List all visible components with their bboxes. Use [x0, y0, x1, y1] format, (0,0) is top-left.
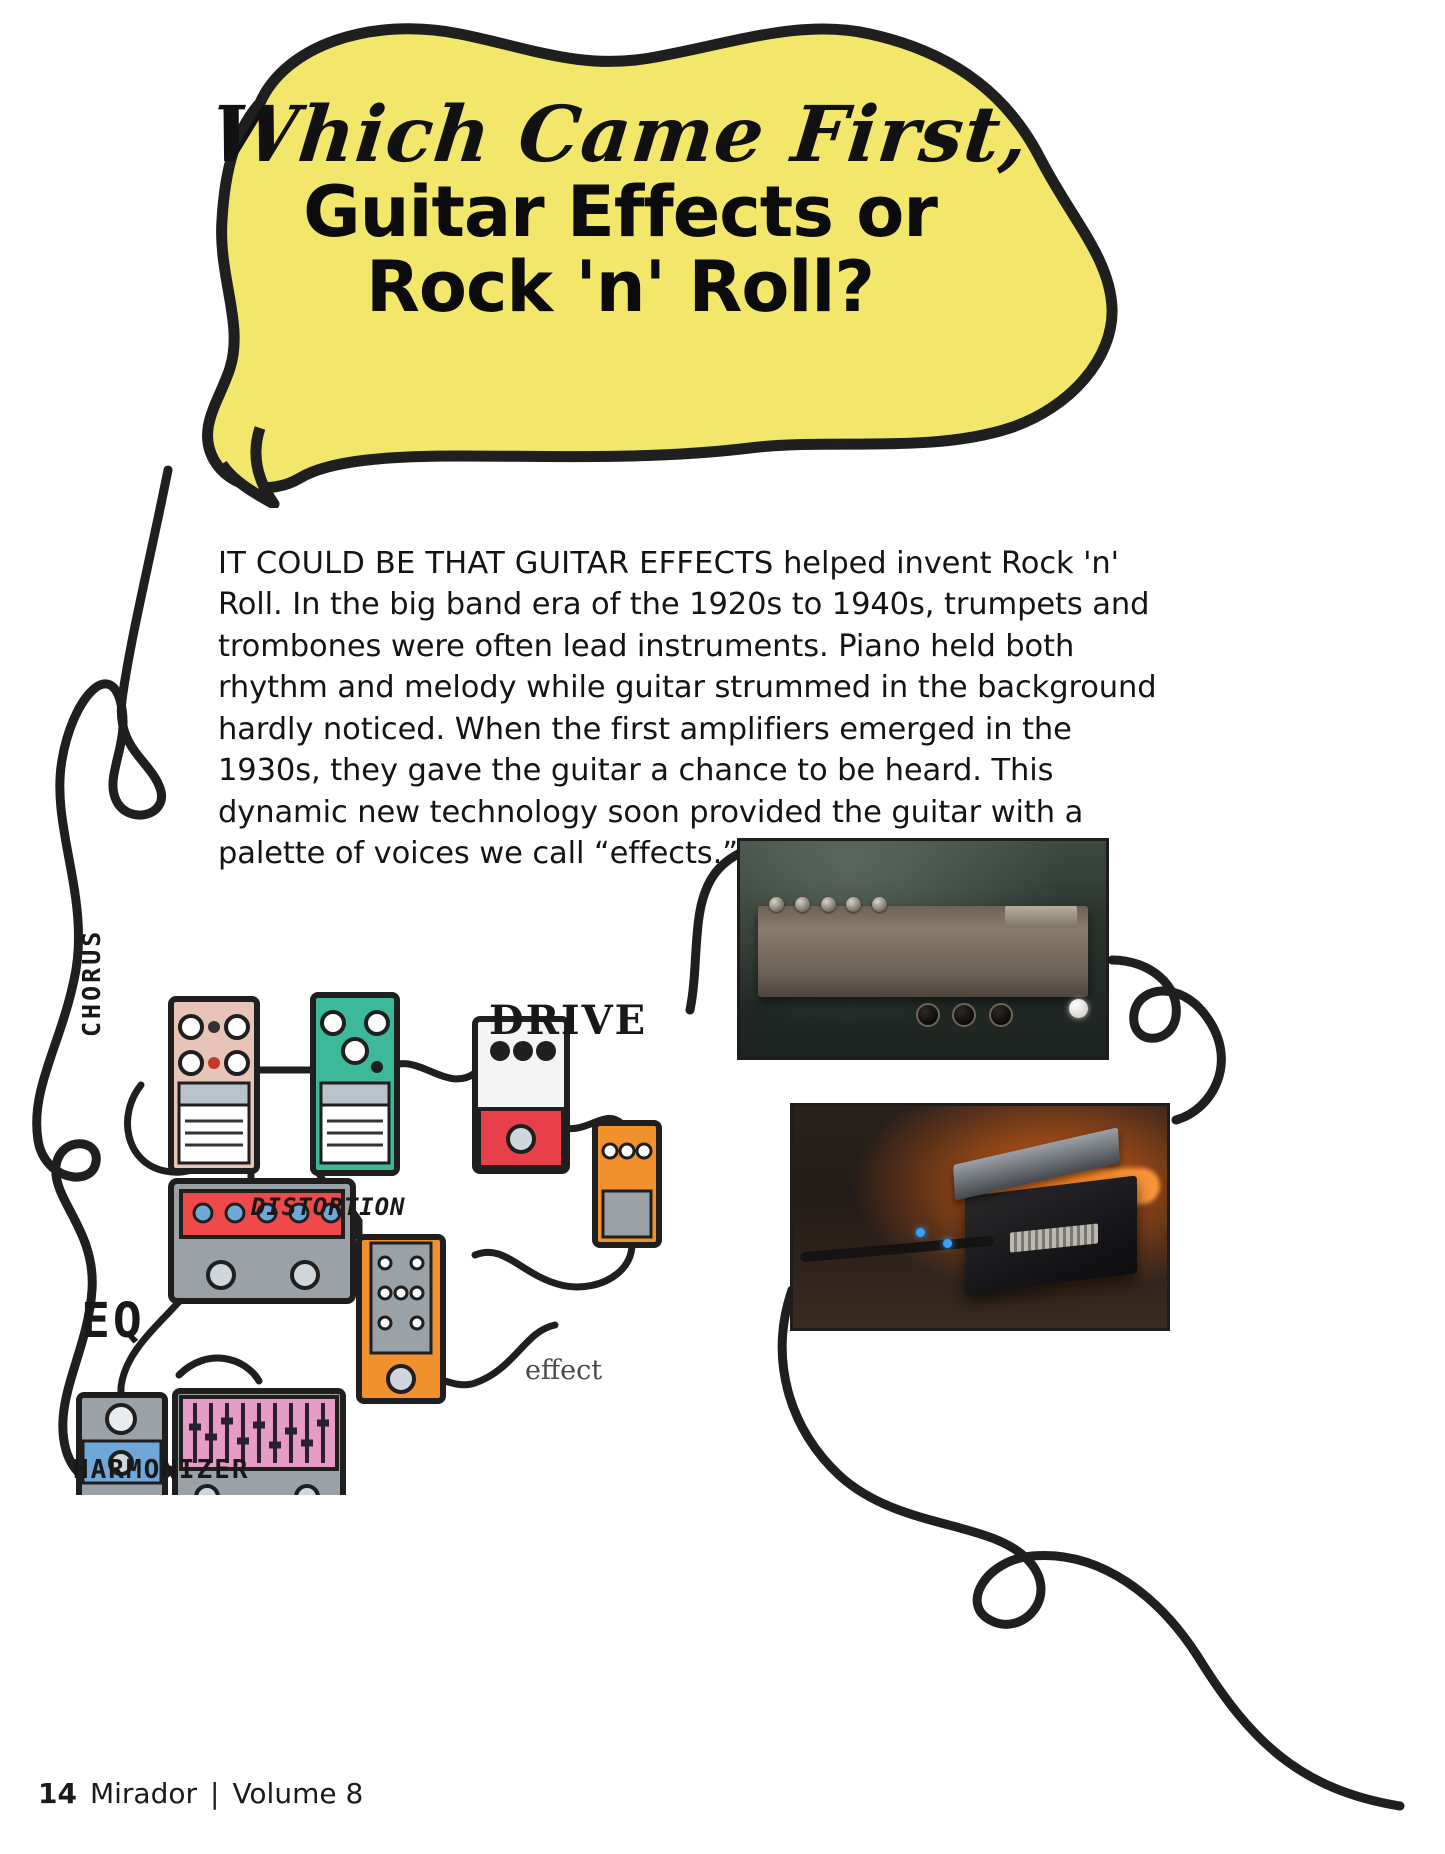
- pedal-label-eq: EQ: [81, 1293, 145, 1349]
- delay-knob: [795, 897, 810, 912]
- wah-led: [943, 1239, 952, 1248]
- pedalboard-illustration: CHORUS DISTORTION DRIVE EQ effect HARMON…: [55, 975, 755, 1495]
- pedal-label-harmonizer: HARMONIZER: [73, 1455, 250, 1485]
- crybaby-wah-pedal-photo: [790, 1103, 1170, 1331]
- delay-jack: [916, 1003, 940, 1027]
- footer-page-number: 14: [38, 1777, 77, 1810]
- delay-jack: [952, 1003, 976, 1027]
- title-line-script: Which Came First,: [106, 98, 1134, 173]
- delay-jack: [989, 1003, 1013, 1027]
- footer-volume: Volume 8: [232, 1777, 363, 1810]
- delay-brand-plate: [1005, 906, 1077, 928]
- article-lead-in: IT COULD BE THAT GUITAR EFFECTS: [218, 546, 773, 581]
- chorus-pedal: [171, 999, 257, 1171]
- korg-digital-delay-photo: [737, 838, 1109, 1060]
- distortion-pedal: [313, 995, 397, 1173]
- effect-pedal-orange: [595, 1123, 659, 1245]
- wah-led: [916, 1228, 925, 1237]
- page-footer: 14 Mirador | Volume 8: [38, 1777, 363, 1810]
- delay-power-led: [1069, 999, 1088, 1018]
- title-block: Which Came First, Guitar Effects or Rock…: [110, 98, 1130, 324]
- title-line-bold-2: Rock 'n' Roll?: [110, 250, 1130, 324]
- multi-switch-pedal: [359, 1237, 443, 1401]
- pedal-label-distortion: DISTORTION: [251, 1193, 406, 1221]
- pedal-label-effect: effect: [525, 1355, 602, 1386]
- delay-knob: [872, 897, 887, 912]
- pedal-label-chorus: CHORUS: [77, 929, 106, 1037]
- footer-publication: Mirador: [90, 1777, 197, 1810]
- pedal-label-drive: DRIVE: [489, 997, 647, 1044]
- title-speech-bubble: Which Came First, Guitar Effects or Rock…: [110, 8, 1130, 508]
- pedalboard-drawing: [55, 975, 755, 1495]
- magazine-page: Which Came First, Guitar Effects or Rock…: [0, 0, 1445, 1854]
- delay-knob: [821, 897, 836, 912]
- article-paragraph: IT COULD BE THAT GUITAR EFFECTS helped i…: [218, 543, 1163, 875]
- footer-separator: |: [210, 1777, 219, 1810]
- title-line-bold-1: Guitar Effects or: [110, 175, 1130, 249]
- article-body-text: helped invent Rock 'n' Roll. In the big …: [218, 546, 1157, 872]
